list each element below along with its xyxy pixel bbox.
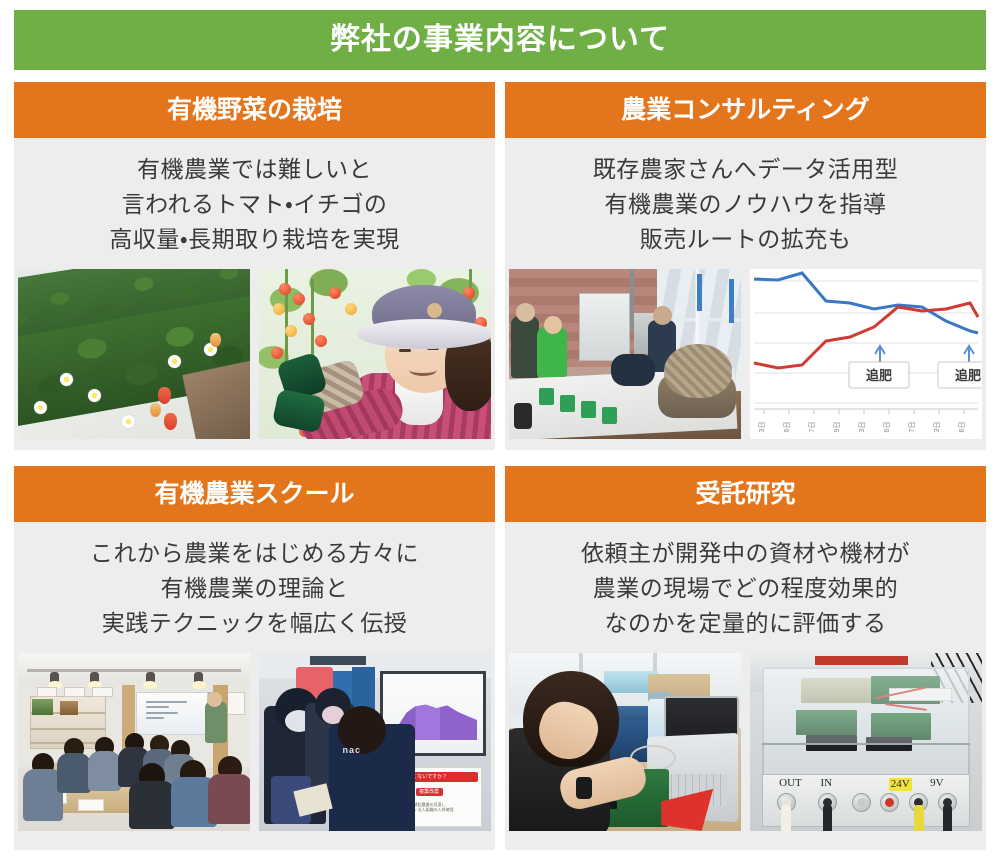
section-description: これから農業をはじめる方々に 有機農業の理論と 実践テクニックを幅広く伝授 bbox=[90, 536, 419, 641]
measurement-device-photo: OUT IN 24V 9V bbox=[750, 653, 982, 831]
port-power-button[interactable] bbox=[880, 793, 899, 812]
section-body: 有機農業では難しいと 言われるトマト・イチゴの 高収量・長期取り栽培を実現 bbox=[14, 138, 495, 450]
slide-root: 弊社の事業内容について 有機野菜の栽培 有機農業では難しいと 言われるトマト・イ… bbox=[0, 0, 1000, 860]
page-title: 弊社の事業内容について bbox=[330, 25, 670, 55]
section-header-organic-farming-school: 有機農業スクール bbox=[14, 466, 495, 522]
section-card-organic-farming-school: 有機農業スクール これから農業をはじめる方々に 有機農業の理論と 実践テクニック… bbox=[14, 466, 495, 850]
expo-tag-2: 複業改農 bbox=[419, 790, 439, 795]
device-terminal-panel: OUT IN 24V 9V bbox=[762, 774, 971, 827]
section-heading: 有機野菜の栽培 bbox=[167, 98, 342, 123]
section-card-organic-vegetable-cultivation: 有機野菜の栽培 有機農業では難しいと 言われるトマト・イチゴの 高収量・長期取り… bbox=[14, 82, 495, 450]
svg-text:3日: 3日 bbox=[758, 421, 766, 432]
section-header-organic-vegetable-cultivation: 有機野菜の栽培 bbox=[14, 82, 495, 138]
section-photo-strip: 追肥 追肥 3日 6日 7日 9日 3日 6日 7日 bbox=[505, 269, 986, 439]
section-description: 既存農家さんへデータ活用型 有機農業のノウハウを指導 販売ルートの拡充も bbox=[593, 152, 899, 257]
svg-text:3日: 3日 bbox=[933, 421, 941, 432]
section-photo-strip bbox=[14, 269, 495, 439]
section-description: 依頼主が開発中の資材や機材が 農業の現場でどの程度効果的 なのかを定量的に評価す… bbox=[581, 536, 910, 641]
expo-booth-photo: 農業をやりたくないですか？ 時代改農 複業改農 高齢化の加速 / 不耕起農業の見… bbox=[259, 653, 491, 831]
chart-annotation-label-1: 追肥 bbox=[866, 368, 892, 383]
section-card-agricultural-consulting: 農業コンサルティング 既存農家さんへデータ活用型 有機農業のノウハウを指導 販売… bbox=[505, 82, 986, 450]
growth-line-chart: 追肥 追肥 3日 6日 7日 9日 3日 6日 7日 bbox=[750, 269, 982, 439]
port-blank[interactable] bbox=[852, 793, 871, 812]
section-header-agricultural-consulting: 農業コンサルティング bbox=[505, 82, 986, 138]
section-header-contract-research: 受託研究 bbox=[505, 466, 986, 522]
svg-text:9日: 9日 bbox=[833, 421, 841, 432]
section-heading: 受託研究 bbox=[695, 482, 795, 507]
slide-title-banner: 弊社の事業内容について bbox=[14, 10, 986, 70]
section-card-contract-research: 受託研究 依頼主が開発中の資材や機材が 農業の現場でどの程度効果的 なのかを定量… bbox=[505, 466, 986, 850]
booth-jacket-logo: nac bbox=[343, 745, 362, 755]
svg-text:7日: 7日 bbox=[908, 421, 916, 432]
growth-data-chart-photo: 追肥 追肥 3日 6日 7日 9日 3日 6日 7日 bbox=[750, 269, 982, 439]
chart-annotation-label-2: 追肥 bbox=[955, 368, 981, 383]
section-body: 依頼主が開発中の資材や機材が 農業の現場でどの程度効果的 なのかを定量的に評価す… bbox=[505, 522, 986, 850]
port-label-24v: 24V bbox=[889, 778, 912, 791]
port-label-in: IN bbox=[820, 778, 832, 789]
greenhouse-consulting-photo bbox=[509, 269, 741, 439]
svg-text:6日: 6日 bbox=[883, 421, 891, 432]
port-label-out: OUT bbox=[779, 778, 802, 789]
section-photo-strip: 農業をやりたくないですか？ 時代改農 複業改農 高齢化の加速 / 不耕起農業の見… bbox=[14, 653, 495, 831]
tomato-harvest-photo bbox=[259, 269, 491, 439]
section-photo-strip: OUT IN 24V 9V bbox=[505, 653, 986, 831]
strawberry-greenhouse-photo bbox=[18, 269, 250, 439]
section-heading: 農業コンサルティング bbox=[621, 98, 870, 123]
researcher-electronics-photo bbox=[509, 653, 741, 831]
svg-text:7日: 7日 bbox=[808, 421, 816, 432]
section-heading: 有機農業スクール bbox=[154, 482, 354, 507]
svg-text:6日: 6日 bbox=[958, 421, 966, 432]
section-description: 有機農業では難しいと 言われるトマト・イチゴの 高収量・長期取り栽培を実現 bbox=[109, 152, 399, 257]
port-label-9v: 9V bbox=[930, 778, 943, 789]
svg-text:6日: 6日 bbox=[783, 421, 791, 432]
section-body: これから農業をはじめる方々に 有機農業の理論と 実践テクニックを幅広く伝授 bbox=[14, 522, 495, 850]
seminar-classroom-photo bbox=[18, 653, 250, 831]
section-body: 既存農家さんへデータ活用型 有機農業のノウハウを指導 販売ルートの拡充も bbox=[505, 138, 986, 450]
svg-text:3日: 3日 bbox=[858, 421, 866, 432]
